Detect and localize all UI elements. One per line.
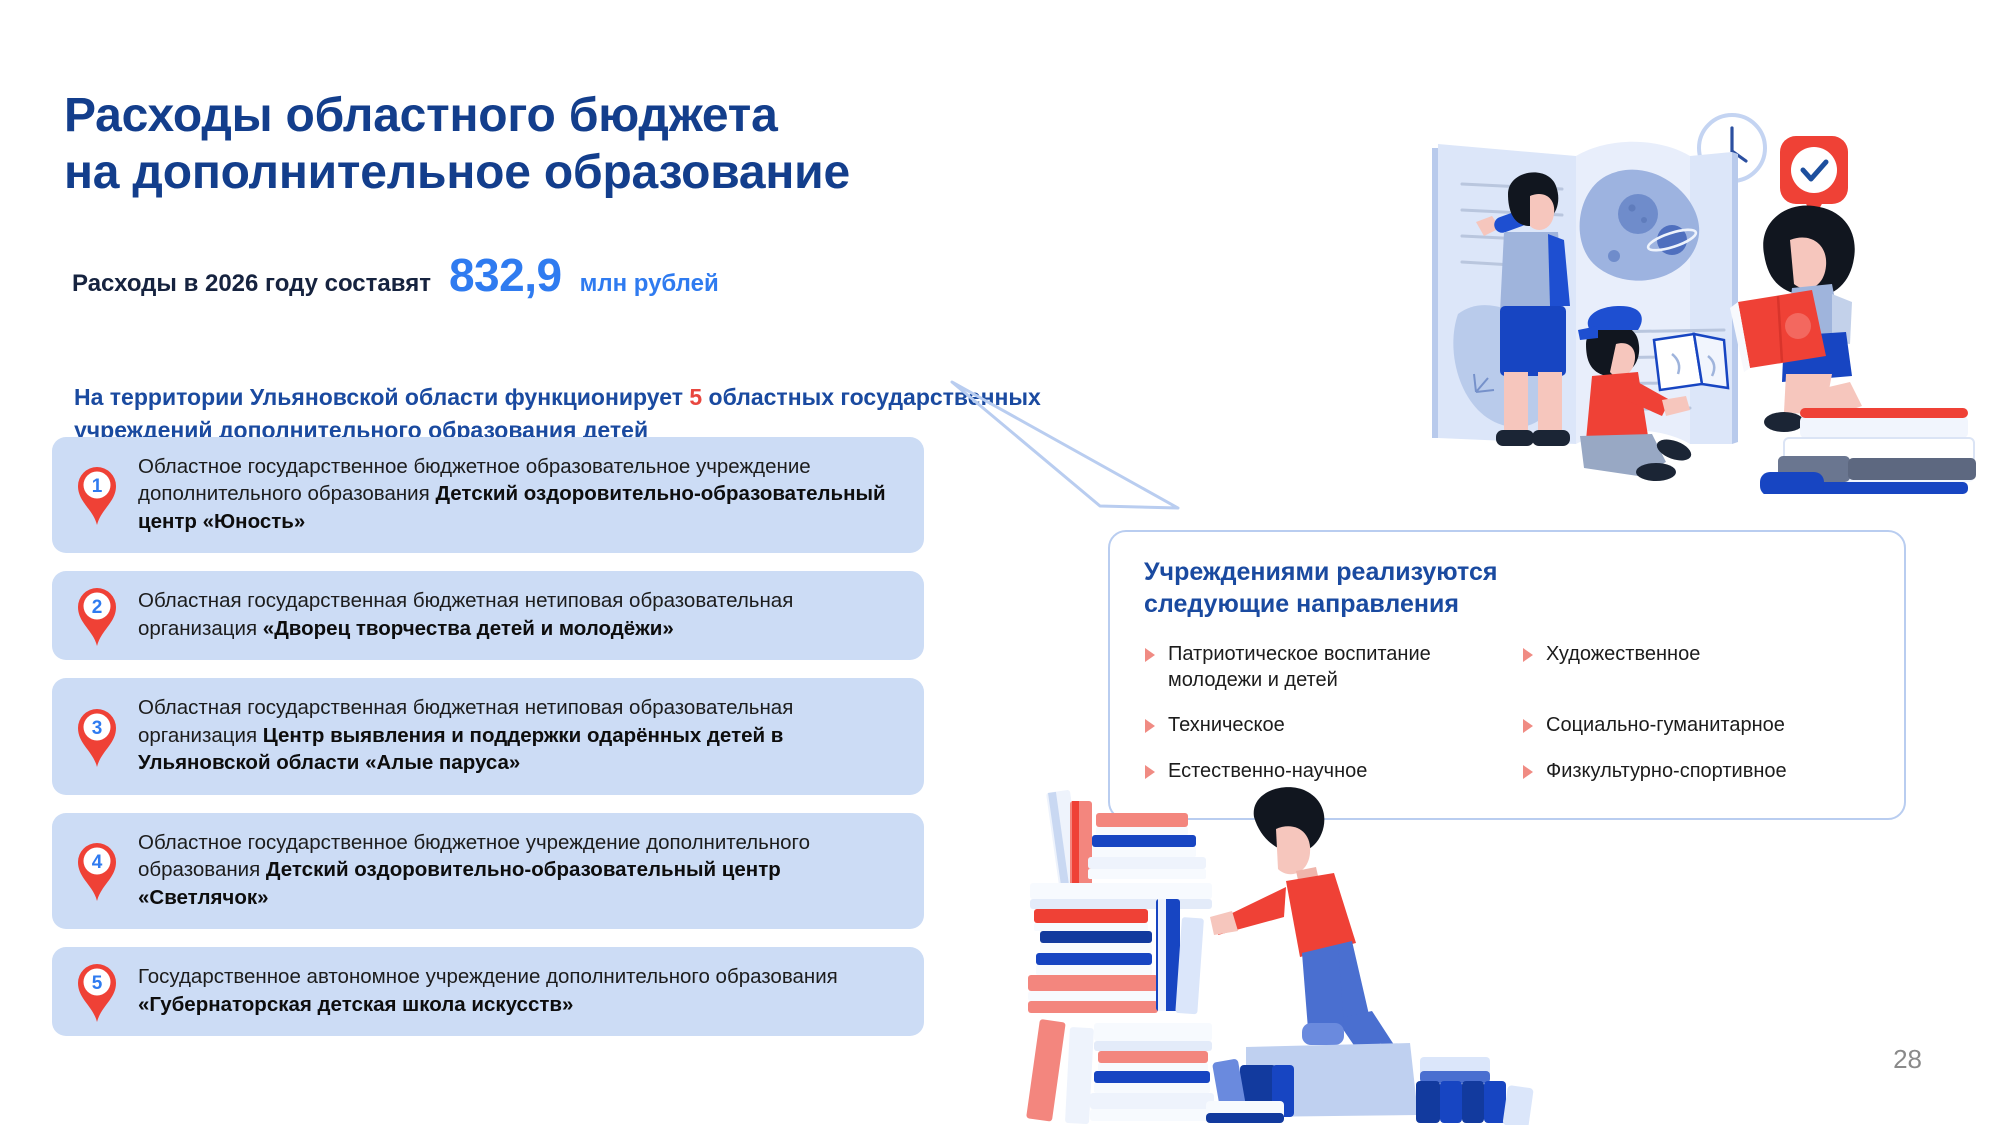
- institution-text: Областная государственная бюджетная нети…: [138, 587, 902, 642]
- direction-label: Художественное: [1546, 642, 1700, 668]
- intro-count: 5: [689, 384, 702, 410]
- direction-item[interactable]: Социально-гуманитарное: [1522, 713, 1870, 739]
- institution-text-plain: Государственное автономное учреждение до…: [138, 965, 838, 988]
- svg-text:4: 4: [92, 852, 103, 873]
- book-stack-tall: [1026, 790, 1214, 1124]
- children-reading-book-illustration: [1380, 44, 2000, 494]
- list-item[interactable]: 3 Областная государственная бюджетная не…: [52, 678, 924, 794]
- map-pin-icon: 5: [74, 961, 120, 1023]
- triangle-bullet-icon: [1144, 718, 1156, 734]
- svg-text:2: 2: [92, 597, 103, 618]
- triangle-bullet-icon: [1522, 718, 1534, 734]
- directions-grid: Патриотическое воспитание молодежи и дет…: [1144, 642, 1870, 784]
- direction-item[interactable]: Художественное: [1522, 642, 1870, 693]
- svg-text:1: 1: [92, 476, 103, 497]
- direction-item[interactable]: Техническое: [1144, 713, 1492, 739]
- direction-item[interactable]: Патриотическое воспитание молодежи и дет…: [1144, 642, 1492, 693]
- intro-text-after: областных: [702, 384, 834, 410]
- panel-title-line-1: Учреждениями реализуются: [1144, 558, 1497, 586]
- map-pin-icon: 2: [74, 585, 120, 647]
- institution-text-bold: «Губернаторская детская школа искусств»: [138, 993, 573, 1016]
- boy-walking-on-books-illustration: [1000, 775, 1620, 1125]
- panel-title: Учреждениями реализуются следующие напра…: [1144, 556, 1870, 620]
- institution-text: Областное государственное бюджетное обра…: [138, 453, 902, 535]
- page-title: Расходы областного бюджета на дополнител…: [64, 88, 1124, 201]
- institution-text-bold: «Дворец творчества детей и молодёжи»: [263, 617, 674, 640]
- map-pin-icon: 1: [74, 464, 120, 526]
- girl-reading-on-books: [1730, 205, 1976, 494]
- institution-text: Областная государственная бюджетная нети…: [138, 694, 902, 776]
- map-pin-icon: 4: [74, 840, 120, 902]
- expense-label: Расходы в 2026 году составят: [72, 270, 431, 298]
- institution-list: 1 Областное государственное бюджетное об…: [52, 437, 924, 1054]
- triangle-bullet-icon: [1144, 647, 1156, 663]
- intro-text-before: На территории Ульяновской области функци…: [74, 384, 689, 410]
- panel-title-line-2: следующие направления: [1144, 590, 1459, 618]
- list-item[interactable]: 1 Областное государственное бюджетное об…: [52, 437, 924, 553]
- title-line-2: на дополнительное образование: [64, 145, 1124, 202]
- open-book: [1432, 142, 1738, 444]
- page-number: 28: [1893, 1044, 1922, 1075]
- direction-label: Социально-гуманитарное: [1546, 713, 1785, 739]
- expense-unit: млн рублей: [580, 270, 719, 298]
- triangle-bullet-icon: [1522, 647, 1534, 663]
- boy-walking: [1210, 787, 1408, 1075]
- svg-text:5: 5: [92, 973, 103, 994]
- list-item[interactable]: 2 Областная государственная бюджетная не…: [52, 571, 924, 660]
- direction-label: Патриотическое воспитание молодежи и дет…: [1168, 642, 1492, 693]
- platform-and-books: [1206, 1043, 1534, 1125]
- list-item[interactable]: 4 Областное государственное бюджетное уч…: [52, 813, 924, 929]
- checkmark-badge-icon: [1780, 136, 1848, 218]
- slide-root: Расходы областного бюджета на дополнител…: [0, 0, 2000, 1125]
- map-pin-icon: 3: [74, 706, 120, 768]
- institution-text: Областное государственное бюджетное учре…: [138, 829, 902, 911]
- expense-value: 832,9: [449, 248, 562, 302]
- direction-label: Техническое: [1168, 713, 1285, 739]
- svg-text:3: 3: [92, 718, 103, 739]
- title-line-1: Расходы областного бюджета: [64, 89, 778, 142]
- institution-text: Государственное автономное учреждение до…: [138, 963, 902, 1018]
- list-item[interactable]: 5 Государственное автономное учреждение …: [52, 947, 924, 1036]
- expense-summary: Расходы в 2026 году составят 832,9 млн р…: [72, 248, 719, 302]
